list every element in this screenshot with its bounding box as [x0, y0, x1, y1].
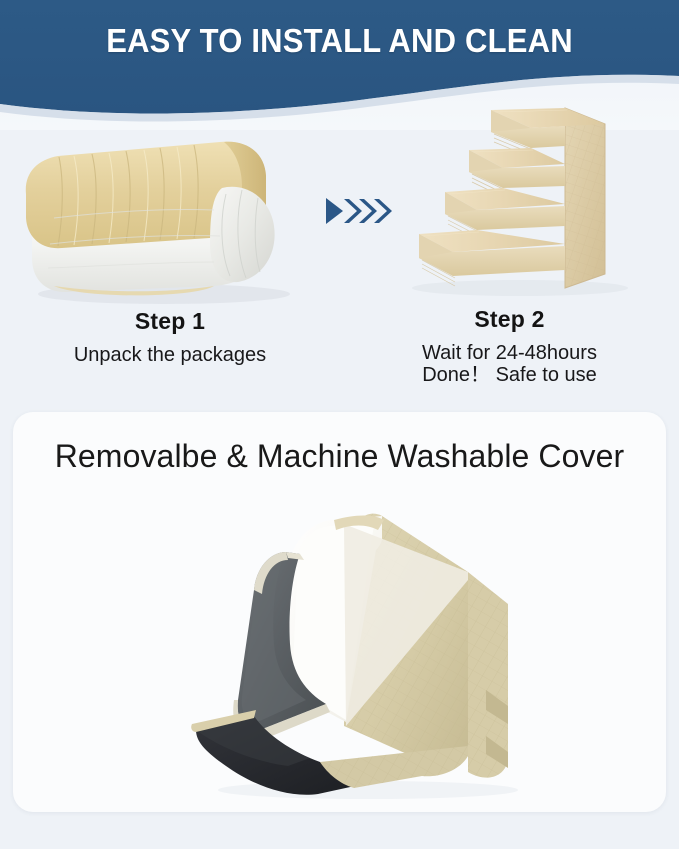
step-1-description: Unpack the packages — [0, 344, 340, 366]
step-2-image-container — [395, 98, 645, 298]
step-2-title: Step 2 — [340, 306, 679, 333]
panel-title: Removalbe & Machine Washable Cover — [13, 438, 666, 475]
pet-stairs-cover-removed-photo — [168, 494, 548, 804]
step-2-description: Wait for 24-48hours Done！ Safe to use — [340, 342, 679, 387]
vacuum-packed-foam-roll-photo — [14, 126, 314, 306]
assembled-pet-stairs-photo — [395, 98, 645, 298]
step-2-description-line-1: Wait for 24-48hours — [340, 342, 679, 364]
page-title: EASY TO INSTALL AND CLEAN — [20, 22, 658, 60]
washable-cover-panel: Removalbe & Machine Washable Cover — [13, 412, 666, 812]
step-2-description-line-2: Done！ Safe to use — [340, 364, 679, 386]
step-1-caption: Step 1 Unpack the packages — [0, 308, 340, 366]
step-2-caption: Step 2 Wait for 24-48hours Done！ Safe to… — [340, 306, 679, 387]
chevrons-right-icon — [322, 193, 392, 229]
step-1-title: Step 1 — [0, 308, 340, 335]
infographic-page: EASY TO INSTALL AND CLEAN — [0, 0, 679, 849]
step-1-image-container — [14, 126, 314, 306]
steps-section: Step 1 Unpack the packages Step 2 Wait f… — [0, 108, 679, 398]
